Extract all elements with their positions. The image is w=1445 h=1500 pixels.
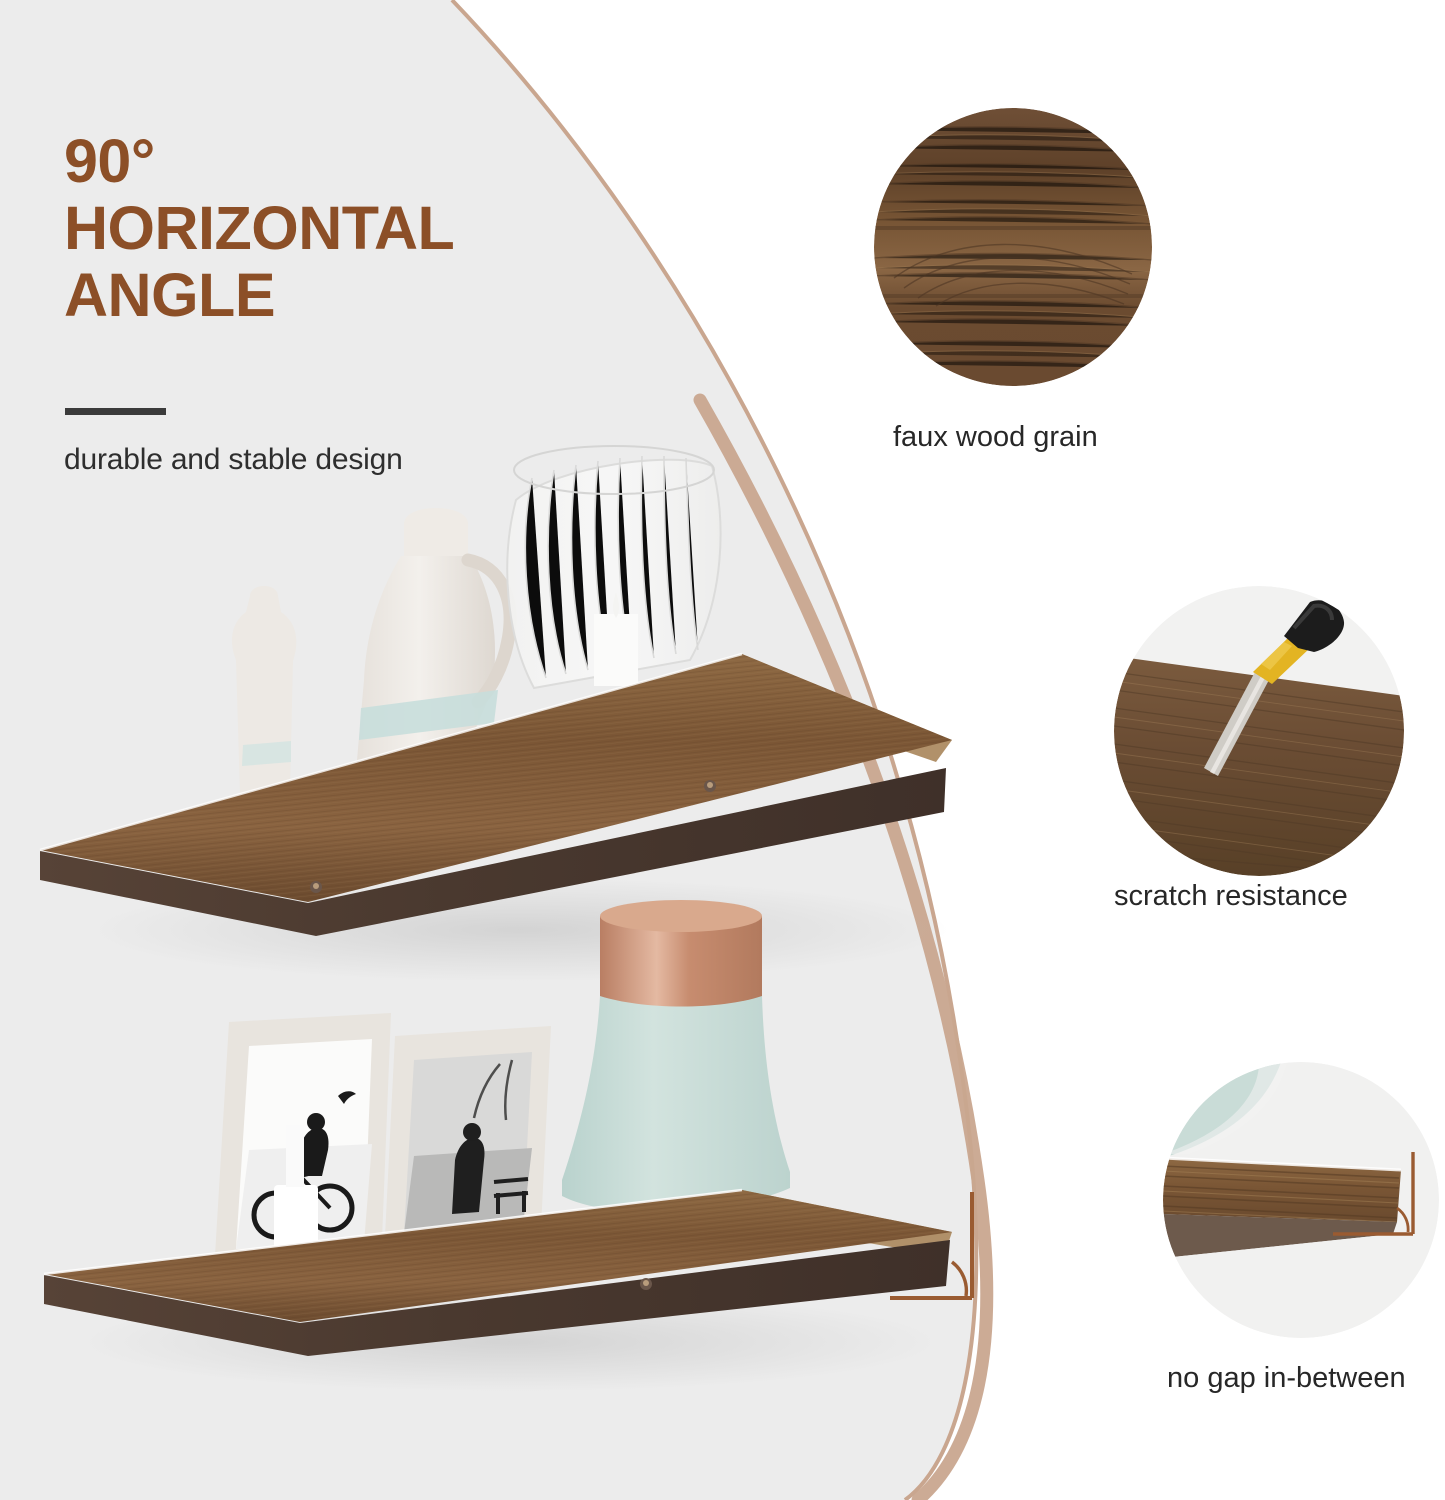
- shelf-edge-right-angle-icon: [1163, 1062, 1439, 1338]
- upper-shelf-group: [40, 446, 952, 982]
- product-feature-image: 90° HORIZONTAL ANGLE durable and stable …: [0, 0, 1445, 1500]
- screwdriver-on-wood-icon: [1114, 586, 1404, 876]
- caption-no-gap: no gap in-between: [1167, 1362, 1406, 1395]
- vase-rim: [600, 900, 762, 932]
- caption-scratch-resistance: scratch resistance: [1114, 880, 1348, 913]
- caption-faux-wood-grain: faux wood grain: [893, 421, 1098, 454]
- white-taper-candle: [286, 1125, 304, 1187]
- feature-no-gap: [1163, 1062, 1439, 1338]
- feature-scratch-resistance: [1114, 586, 1404, 876]
- white-pillar-candle: [594, 614, 638, 686]
- small-vase-band: [242, 741, 291, 766]
- cream-jug-neck: [404, 508, 468, 556]
- wood-grain-swatch-icon: [874, 108, 1152, 386]
- feature-faux-wood-grain: [874, 108, 1152, 386]
